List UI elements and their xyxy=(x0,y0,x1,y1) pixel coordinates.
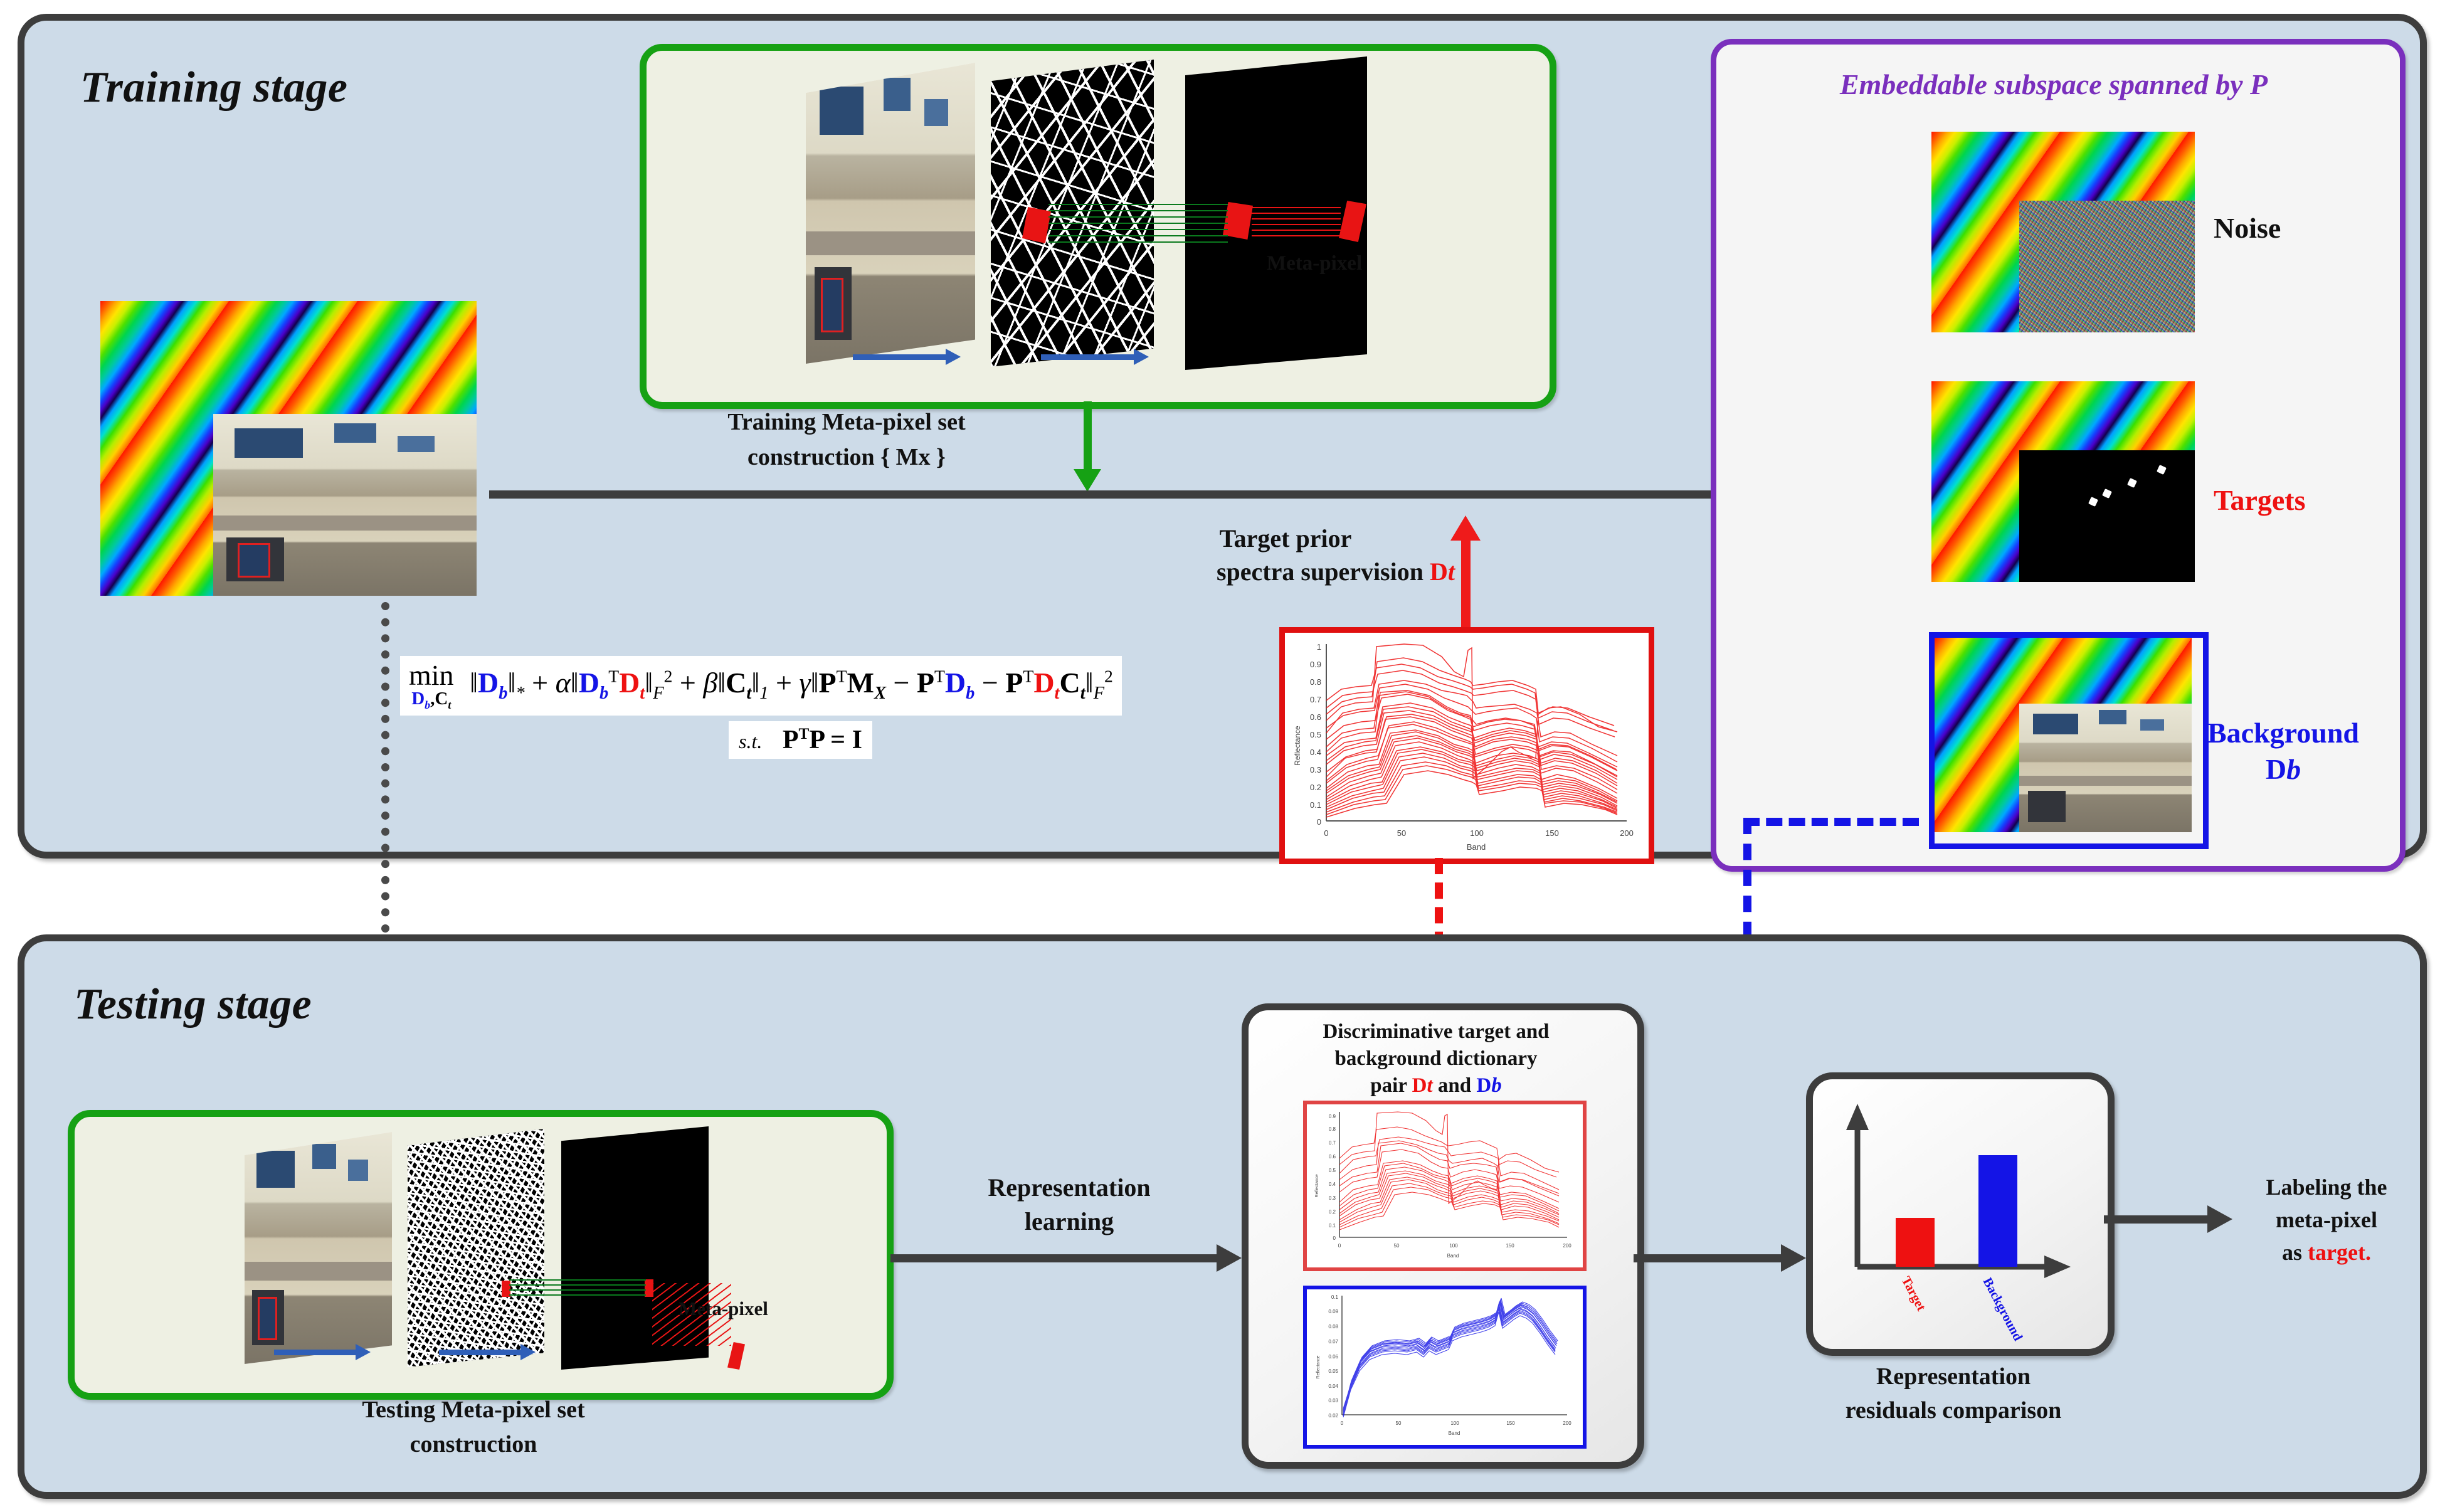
svg-text:50: 50 xyxy=(1396,1420,1402,1426)
dictionary-target-chart: 0 0.10.2 0.30.4 0.50.6 0.70.8 0.9 050 10… xyxy=(1307,1104,1583,1267)
testing-metapixel-label: Meta-pixel xyxy=(679,1297,768,1321)
training-arrow-1 xyxy=(853,354,947,360)
training-projection-lines xyxy=(1048,204,1228,244)
formula-min-subscript: Db,Ct xyxy=(409,690,454,711)
formula-min-word: min xyxy=(409,661,454,690)
svg-text:0.7: 0.7 xyxy=(1329,1140,1336,1146)
dictionary-title-line1: Discriminative target and xyxy=(1251,1019,1621,1044)
svg-text:200: 200 xyxy=(1563,1243,1571,1249)
svg-text:0.3: 0.3 xyxy=(1329,1195,1336,1201)
svg-text:0: 0 xyxy=(1341,1420,1344,1426)
svg-text:0.09: 0.09 xyxy=(1328,1309,1338,1314)
residual-to-label-line xyxy=(2104,1215,2207,1224)
svg-text:100: 100 xyxy=(1470,828,1484,838)
background-cube xyxy=(1935,638,2192,832)
svg-text:1: 1 xyxy=(1317,642,1321,652)
svg-text:Reflectance: Reflectance xyxy=(1316,1355,1321,1378)
training-stage-title: Training stage xyxy=(80,63,347,113)
svg-text:100: 100 xyxy=(1450,1420,1459,1426)
dictionary-target-plot: 0 0.10.2 0.30.4 0.50.6 0.70.8 0.9 050 10… xyxy=(1303,1101,1587,1271)
targets-cube-front-face xyxy=(2019,450,2195,582)
training-metapixel-caption-line1: Training Meta-pixel set xyxy=(652,408,1041,436)
training-metapixel-caption-line2: construction { Mx } xyxy=(652,443,1041,472)
dictionary-title-line3: pair Dt and Db xyxy=(1251,1073,1621,1098)
svg-text:0.8: 0.8 xyxy=(1329,1126,1336,1132)
svg-text:50: 50 xyxy=(1397,828,1406,838)
db-dashed-horizontal-top xyxy=(1743,818,1919,826)
testing-projection-lines xyxy=(509,1279,646,1299)
svg-text:Band: Band xyxy=(1449,1430,1460,1436)
svg-text:150: 150 xyxy=(1506,1420,1515,1426)
testing-superpixel-plane xyxy=(408,1129,544,1367)
residual-caption-line1: Representation xyxy=(1806,1362,2101,1391)
objective-formula: min Db,Ct ‖Db‖* + α‖DbTDt‖F2 + β‖Ct‖1 + … xyxy=(400,656,1122,716)
representation-learning-arrowhead xyxy=(1217,1244,1242,1272)
svg-text:Band: Band xyxy=(1467,842,1486,852)
background-label: Background Db xyxy=(2207,715,2359,787)
dictionary-db-symbol: Db xyxy=(1476,1074,1501,1097)
svg-text:200: 200 xyxy=(1563,1420,1571,1426)
residual-bar-chart: Target Background xyxy=(1806,1072,2101,1342)
dictionary-title-line2: background dictionary xyxy=(1251,1046,1621,1071)
svg-text:0.1: 0.1 xyxy=(1331,1294,1339,1300)
training-metapixel-rays xyxy=(1252,207,1341,240)
svg-text:0: 0 xyxy=(1317,817,1321,827)
svg-text:0.9: 0.9 xyxy=(1329,1114,1336,1119)
svg-text:0.06: 0.06 xyxy=(1328,1354,1338,1360)
svg-text:0.4: 0.4 xyxy=(1329,1182,1336,1187)
svg-text:0.03: 0.03 xyxy=(1328,1398,1338,1404)
supervision-label-text: spectra supervision xyxy=(1217,558,1423,586)
svg-text:0.3: 0.3 xyxy=(1310,765,1321,775)
objective-constraint: s.t. PTP = I xyxy=(729,721,872,759)
targets-cube xyxy=(1931,381,2195,582)
representation-learning-line xyxy=(890,1254,1217,1262)
supervision-up-arrow xyxy=(1461,539,1471,640)
main-flow-line xyxy=(489,490,1812,499)
input-hyperspectral-cube xyxy=(100,301,477,596)
svg-text:0.05: 0.05 xyxy=(1328,1368,1338,1374)
training-metapixel-label: Meta-pixel xyxy=(1267,251,1362,276)
background-label-symbol: Db xyxy=(2266,753,2301,785)
svg-text:200: 200 xyxy=(1620,828,1634,838)
constraint-prefix: s.t. xyxy=(739,730,762,753)
svg-text:50: 50 xyxy=(1394,1243,1400,1249)
residual-to-label-arrowhead xyxy=(2207,1205,2232,1233)
background-cube-front-face xyxy=(2019,704,2192,832)
svg-text:0.2: 0.2 xyxy=(1310,783,1321,792)
cube-scene-face xyxy=(213,414,477,596)
svg-text:0.04: 0.04 xyxy=(1328,1383,1338,1389)
testing-stage-title: Testing stage xyxy=(74,980,312,1030)
final-label-prefix: as xyxy=(2282,1240,2308,1265)
targets-label: Targets xyxy=(2214,483,2306,518)
testing-metapixel-caption-line1: Testing Meta-pixel set xyxy=(201,1395,746,1424)
svg-text:0.5: 0.5 xyxy=(1310,730,1321,739)
svg-text:0: 0 xyxy=(1324,828,1328,838)
svg-text:Target: Target xyxy=(1899,1274,1930,1313)
formula-body: ‖Db‖* + α‖DbTDt‖F2 + β‖Ct‖1 + γ‖PTMX − P… xyxy=(470,667,1113,699)
svg-text:0.5: 0.5 xyxy=(1329,1168,1336,1173)
svg-text:Reflectance: Reflectance xyxy=(1315,1174,1319,1197)
supervision-label-line2: spectra supervision Dt xyxy=(1116,557,1455,588)
svg-text:0.6: 0.6 xyxy=(1310,712,1321,722)
svg-text:Reflectance: Reflectance xyxy=(1293,726,1302,766)
svg-text:Band: Band xyxy=(1447,1253,1459,1259)
svg-text:0.08: 0.08 xyxy=(1328,1324,1338,1330)
residual-caption-line2: residuals comparison xyxy=(1790,1396,2116,1425)
svg-text:0.2: 0.2 xyxy=(1329,1209,1336,1215)
svg-text:0.1: 0.1 xyxy=(1329,1223,1336,1229)
svg-text:0.6: 0.6 xyxy=(1329,1154,1336,1160)
noise-cube-front-face xyxy=(2019,201,2195,332)
training-scene-plane xyxy=(806,63,975,364)
dictionary-and-word: and xyxy=(1433,1074,1477,1097)
training-arrow-2 xyxy=(1041,354,1135,360)
supervision-label-line1: Target prior xyxy=(1135,524,1436,554)
dictionary-background-plot: 0.020.03 0.040.05 0.060.07 0.080.09 0.1 … xyxy=(1303,1286,1587,1449)
svg-text:0.7: 0.7 xyxy=(1310,695,1321,704)
svg-text:0.07: 0.07 xyxy=(1328,1339,1338,1345)
dictionary-background-chart: 0.020.03 0.040.05 0.060.07 0.080.09 0.1 … xyxy=(1307,1289,1583,1445)
svg-text:150: 150 xyxy=(1545,828,1559,838)
svg-text:0: 0 xyxy=(1338,1243,1341,1249)
training-flow-down-arrow xyxy=(1084,401,1092,470)
background-label-text: Background xyxy=(2207,717,2359,749)
final-label-line2: meta-pixel xyxy=(2239,1207,2414,1234)
svg-text:0.9: 0.9 xyxy=(1310,660,1321,669)
dictionary-dt-symbol: Dt xyxy=(1412,1074,1433,1097)
final-label-line3: as target. xyxy=(2239,1239,2414,1267)
dictionary-to-residual-line xyxy=(1634,1254,1781,1262)
final-label-highlight: target. xyxy=(2308,1240,2371,1265)
representation-learning-line2: learning xyxy=(937,1207,1201,1237)
testing-arrow-1 xyxy=(274,1350,357,1355)
dictionary-pair-word: pair xyxy=(1370,1074,1412,1097)
target-spectra-chart: 0 0.1 0.2 0.3 0.4 0.5 0.6 0.7 0.8 0.9 1 … xyxy=(1285,633,1649,859)
final-label-line1: Labeling the xyxy=(2239,1174,2414,1202)
noise-cube xyxy=(1931,132,2195,332)
svg-text:0.1: 0.1 xyxy=(1310,800,1321,810)
subspace-title: Embeddable subspace spanned by P xyxy=(1737,68,2370,101)
svg-text:150: 150 xyxy=(1506,1243,1514,1249)
dictionary-to-residual-arrowhead xyxy=(1781,1244,1806,1272)
representation-learning-line1: Representation xyxy=(937,1173,1201,1203)
testing-metapixel-caption-line2: construction xyxy=(201,1430,746,1459)
supervision-label-symbol: Dt xyxy=(1430,558,1455,586)
svg-text:0: 0 xyxy=(1333,1235,1336,1241)
testing-scene-plane xyxy=(245,1132,392,1364)
svg-text:0.8: 0.8 xyxy=(1310,677,1321,687)
svg-text:0.4: 0.4 xyxy=(1310,748,1321,757)
svg-text:100: 100 xyxy=(1449,1243,1458,1249)
svg-text:Background: Background xyxy=(1980,1275,2026,1342)
target-spectra-plot-frame: 0 0.1 0.2 0.3 0.4 0.5 0.6 0.7 0.8 0.9 1 … xyxy=(1279,627,1654,864)
testing-arrow-2 xyxy=(439,1350,522,1355)
svg-text:0.02: 0.02 xyxy=(1328,1413,1338,1419)
constraint-expression: PTP = I xyxy=(783,726,862,754)
noise-label: Noise xyxy=(2214,211,2281,246)
